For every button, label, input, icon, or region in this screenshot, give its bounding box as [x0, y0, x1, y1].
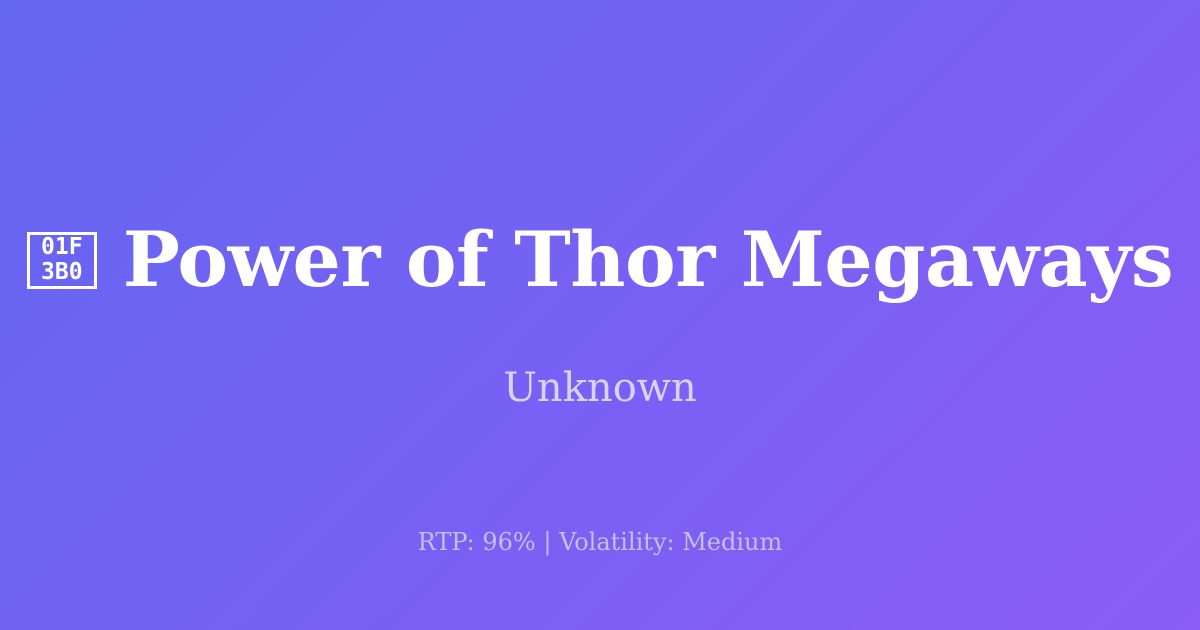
hero-title-row: 01F 3B0 Power of Thor Megaways	[0, 222, 1200, 298]
game-og-card: 01F 3B0 Power of Thor Megaways Unknown R…	[0, 0, 1200, 630]
game-stats-line: RTP: 96% | Volatility: Medium	[0, 527, 1200, 558]
slot-machine-icon: 01F 3B0	[27, 232, 97, 289]
slot-machine-icon-codepoint-top: 01F	[41, 235, 83, 260]
game-provider-subtitle: Unknown	[0, 364, 1200, 412]
page-title: Power of Thor Megaways	[123, 222, 1173, 298]
slot-machine-icon-codepoint-bottom: 3B0	[41, 260, 83, 285]
